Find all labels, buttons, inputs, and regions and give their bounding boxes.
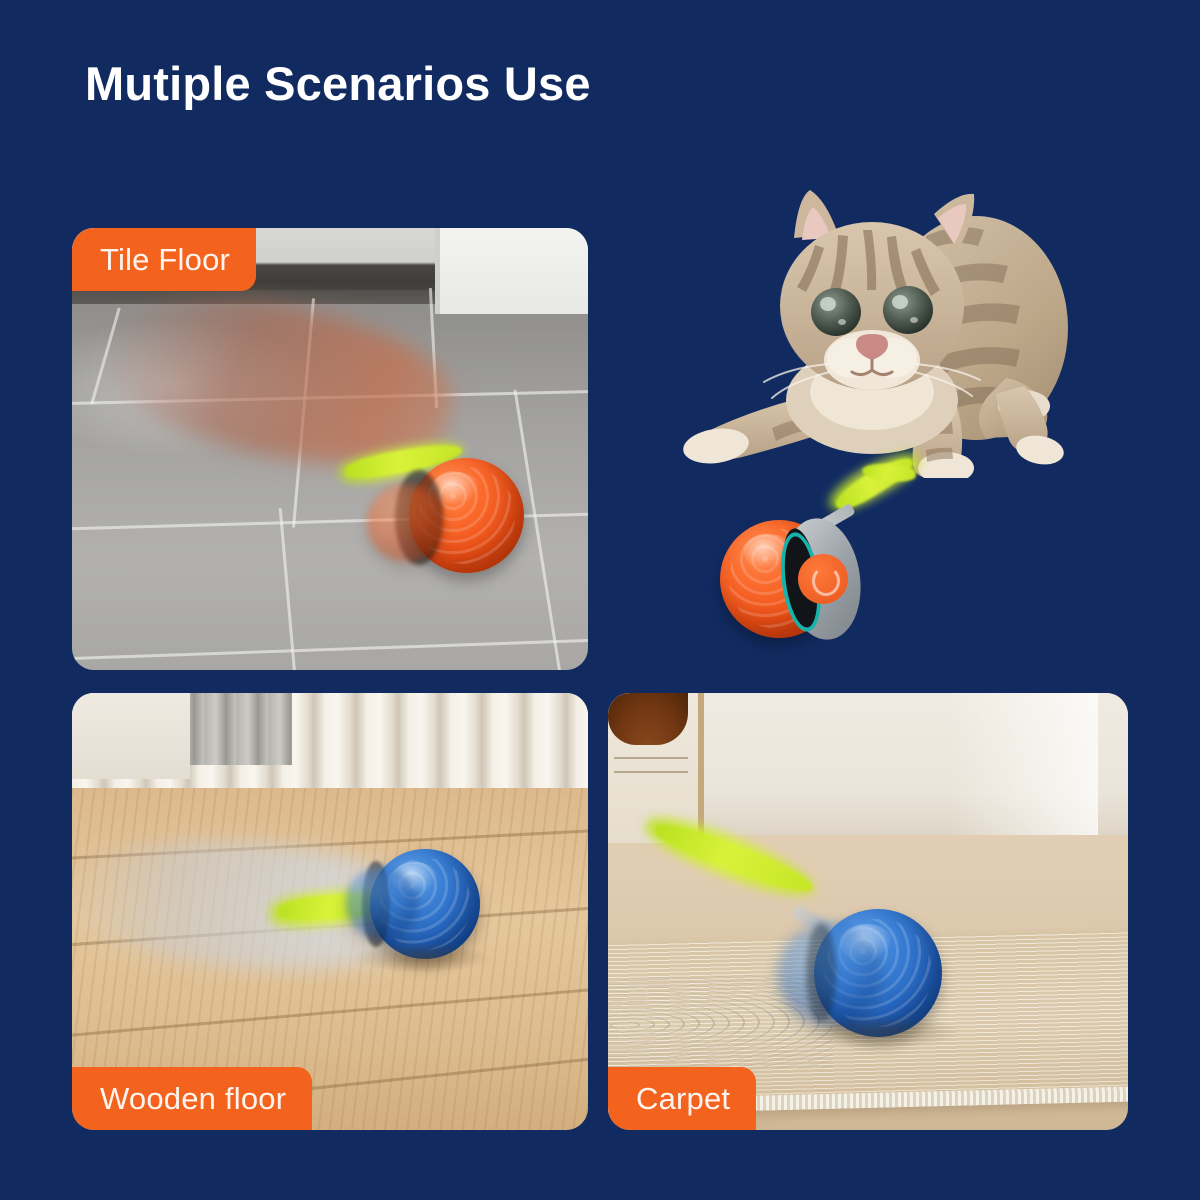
scenario-panel-wood[interactable]: Wooden floor (72, 693, 588, 1130)
hero-cat-image (676, 178, 1106, 478)
feather-wand-icon (651, 816, 817, 900)
furniture-line (614, 771, 688, 773)
scenario-panel-carpet[interactable]: Carpet (608, 693, 1128, 1130)
ball-ground-shadow (802, 1015, 962, 1049)
wall-strip (72, 693, 190, 779)
tile-floor-scene (72, 228, 588, 670)
badge-tile-floor: Tile Floor (72, 228, 256, 291)
toy-ball-blue (270, 845, 500, 995)
badge-carpet: Carpet (608, 1067, 756, 1130)
ball-ground-shadow (352, 943, 492, 973)
toy-ball-orange (327, 436, 527, 576)
wall-light-glow (948, 693, 1098, 835)
door-panel (435, 228, 588, 314)
scenario-panel-tile[interactable]: Tile Floor (72, 228, 588, 670)
badge-label: Carpet (636, 1081, 730, 1117)
hero-product-toy (712, 462, 932, 652)
ball-motion-ghost (346, 867, 418, 939)
badge-label: Wooden floor (100, 1081, 286, 1117)
ball-motion-ghost (367, 484, 445, 562)
furniture-line (614, 757, 688, 759)
window-shade (172, 693, 292, 765)
product-banner: Mutiple Scenarios Use (0, 0, 1200, 1200)
badge-label: Tile Floor (100, 242, 230, 278)
power-icon (812, 566, 840, 596)
plant-pot (608, 693, 688, 745)
toy-ball-blue (616, 827, 956, 1057)
cat-illustration (676, 178, 1106, 478)
wooden-floor-scene (72, 693, 588, 1130)
ball-collar-shadow (806, 923, 836, 1023)
badge-wooden-floor: Wooden floor (72, 1067, 312, 1130)
page-title: Mutiple Scenarios Use (85, 58, 591, 110)
carpet-scene (608, 693, 1128, 1130)
